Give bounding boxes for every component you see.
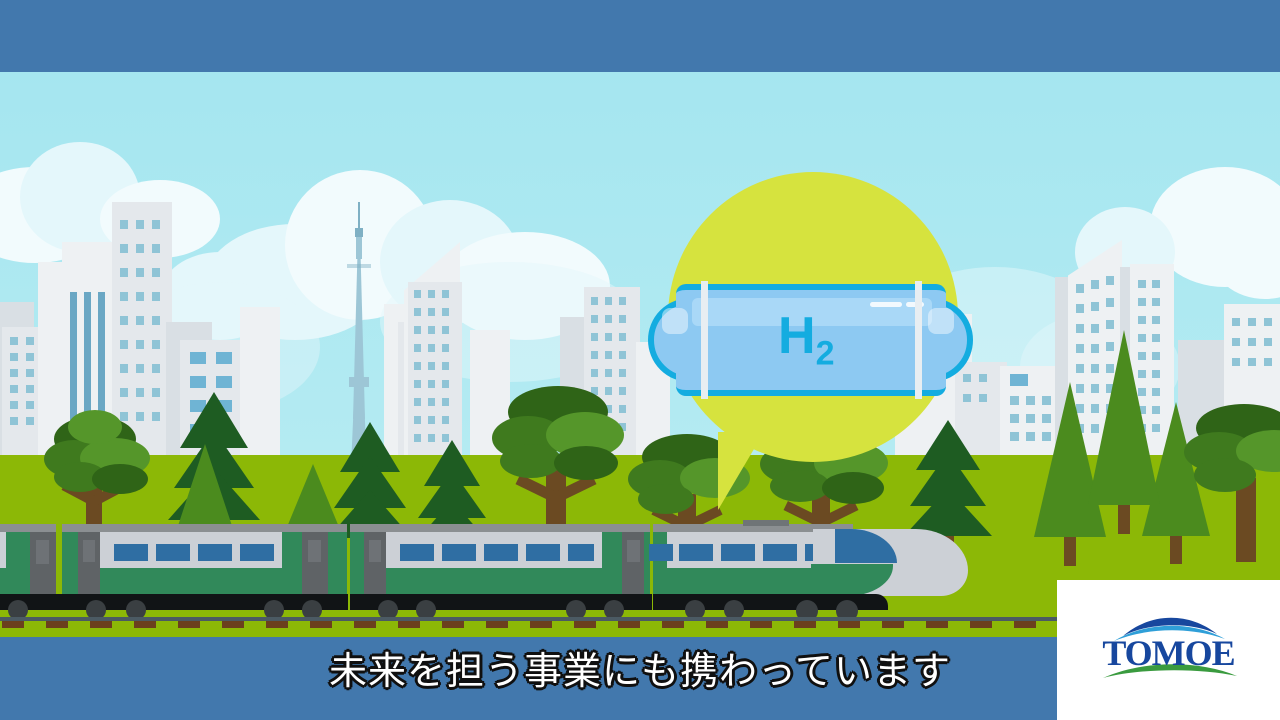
train-underframe xyxy=(0,594,348,610)
hydrogen-tank: H2 xyxy=(648,284,973,396)
video-frame: H2 xyxy=(0,0,1280,720)
tank-band-right xyxy=(915,281,922,399)
tank-band-left xyxy=(701,281,708,399)
logo-card: TOMOE xyxy=(1057,580,1280,720)
h2-label: H2 xyxy=(778,306,834,373)
train-car xyxy=(350,524,650,602)
tank-highlight xyxy=(870,302,902,307)
h2-subscript: 2 xyxy=(816,334,835,372)
train-locomotive xyxy=(653,524,973,602)
speech-bubble-tail xyxy=(718,432,764,510)
train-car xyxy=(62,524,347,602)
tomoe-wordmark: TOMOE xyxy=(1081,632,1256,674)
tomoe-logo: TOMOE xyxy=(1081,610,1256,688)
hydrogen-train xyxy=(0,524,1000,614)
letterbox-top xyxy=(0,0,1280,72)
h2-main-letter: H xyxy=(778,307,816,365)
train-car xyxy=(0,524,56,602)
tank-cap-highlight-right xyxy=(928,308,954,334)
scene-artwork: H2 xyxy=(0,72,1280,637)
tank-cap-highlight-left xyxy=(662,308,688,334)
locomotive-nose xyxy=(813,524,973,596)
